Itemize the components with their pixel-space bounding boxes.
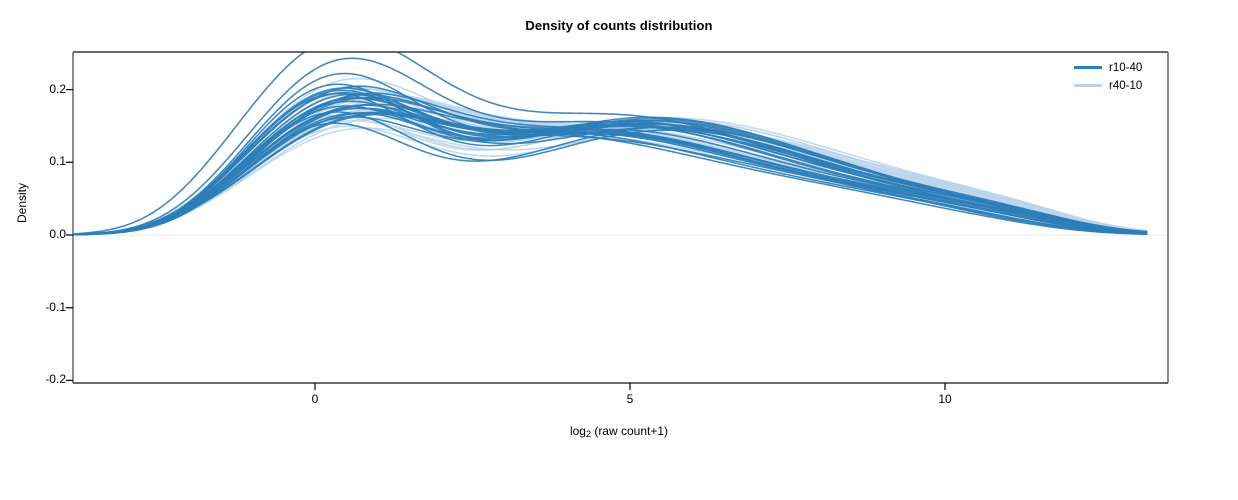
y-tick-label-0: 0.2 [26, 82, 66, 96]
y-tick-label-1: 0.1 [26, 154, 66, 168]
y-tick-label-2: 0.0 [26, 227, 66, 241]
x-tick-label-1: 5 [610, 392, 650, 406]
x-axis-title: log2 (raw count+1) [0, 424, 1238, 439]
x-axis-title-prefix: log [570, 424, 586, 438]
legend-swatch-icon-1 [1074, 84, 1102, 87]
density-curves-group [72, 36, 1146, 234]
x-axis-title-suffix: (raw count+1) [591, 424, 668, 438]
x-tick-label-2: 10 [925, 392, 965, 406]
legend-swatch-icon-0 [1074, 66, 1102, 70]
y-tick-label-3: -0.1 [26, 300, 66, 314]
density-curve-r40-10-0 [72, 79, 1146, 235]
density-plot-figure: Density of counts distribution Density l… [0, 0, 1238, 500]
legend-item-1[interactable]: r40-10 [1074, 79, 1142, 92]
series-r10-40 [72, 36, 1146, 234]
x-axis-tick-labels: 0510 [0, 392, 1238, 416]
y-tick-label-4: -0.2 [26, 372, 66, 386]
legend-label-0: r10-40 [1109, 62, 1142, 74]
legend-label-1: r40-10 [1109, 80, 1142, 92]
y-axis-tick-labels: 0.20.10.0-0.1-0.2 [18, 0, 66, 500]
legend: r10-40 r40-10 [1068, 58, 1148, 96]
series-r40-10 [72, 79, 1146, 235]
page-title: Density of counts distribution [0, 18, 1238, 33]
x-tick-label-0: 0 [295, 392, 335, 406]
legend-item-0[interactable]: r10-40 [1074, 61, 1142, 74]
